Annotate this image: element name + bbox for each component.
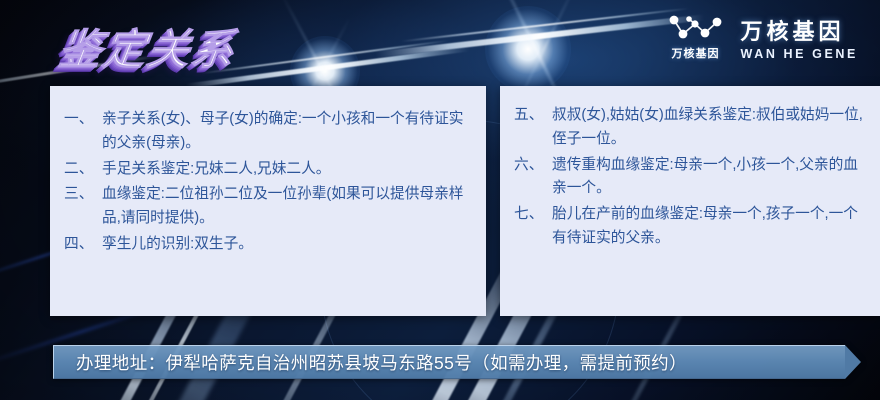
list-item-number: 三、	[64, 183, 102, 207]
brand-wordmark: 万核基因 WAN HE GENE	[741, 14, 859, 61]
address-text: 办理地址：伊犁哈萨克自治州昭苏县坡马东路55号（如需办理，需提前预约）	[76, 350, 687, 375]
list-item: 四、 孪生儿的识别:双生子。	[64, 233, 470, 257]
list-item-number: 七、	[514, 203, 552, 227]
panel-inner: 一、 亲子关系(女)、母子(女)的确定:一个小孩和一个有待证实的父亲(母亲)。 …	[50, 86, 486, 316]
list-item-number: 五、	[514, 104, 552, 128]
brand-mark-label: 万核基因	[672, 45, 720, 61]
molecule-network-icon	[667, 13, 725, 43]
list-item-number: 四、	[64, 233, 102, 257]
list-item: 三、 血缘鉴定:二位祖孙二位及一位孙辈(如果可以提供母亲样品,请同时提供)。	[64, 183, 470, 231]
promo-banner: 鉴定关系	[0, 0, 880, 400]
list-item-number: 六、	[514, 154, 552, 178]
list-item: 二、 手足关系鉴定:兄妹二人,兄妹二人。	[64, 158, 470, 182]
list-item-text: 孪生儿的识别:双生子。	[102, 233, 470, 257]
list-item-text: 血缘鉴定:二位祖孙二位及一位孙辈(如果可以提供母亲样品,请同时提供)。	[102, 183, 470, 231]
list-item-number: 二、	[64, 158, 102, 182]
service-list-panel-left: 一、 亲子关系(女)、母子(女)的确定:一个小孩和一个有待证实的父亲(母亲)。 …	[50, 86, 486, 316]
brand-mark: 万核基因	[667, 13, 725, 61]
address-banner: 办理地址：伊犁哈萨克自治州昭苏县坡马东路55号（如需办理，需提前预约）	[53, 345, 861, 379]
banner-header: 鉴定关系	[0, 0, 880, 86]
service-list-panel-right: 五、 叔叔(女),姑姑(女)血绿关系鉴定:叔伯或姑妈一位,侄子一位。 六、 遗传…	[500, 86, 880, 316]
address-bar: 办理地址：伊犁哈萨克自治州昭苏县坡马东路55号（如需办理，需提前预约）	[53, 345, 845, 379]
list-item-text: 叔叔(女),姑姑(女)血绿关系鉴定:叔伯或姑妈一位,侄子一位。	[552, 104, 868, 152]
brand-logo: 万核基因 万核基因 WAN HE GENE	[667, 13, 859, 61]
brand-name-cn: 万核基因	[741, 14, 845, 46]
list-item: 一、 亲子关系(女)、母子(女)的确定:一个小孩和一个有待证实的父亲(母亲)。	[64, 108, 470, 156]
list-item-text: 亲子关系(女)、母子(女)的确定:一个小孩和一个有待证实的父亲(母亲)。	[102, 108, 470, 156]
list-item: 七、 胎儿在产前的血缘鉴定:母亲一个,孩子一个,一个有待证实的父亲。	[514, 203, 868, 251]
list-item-text: 胎儿在产前的血缘鉴定:母亲一个,孩子一个,一个有待证实的父亲。	[552, 203, 868, 251]
page-title: 鉴定关系	[56, 16, 241, 77]
panel-inner: 五、 叔叔(女),姑姑(女)血绿关系鉴定:叔伯或姑妈一位,侄子一位。 六、 遗传…	[500, 86, 880, 316]
list-item: 五、 叔叔(女),姑姑(女)血绿关系鉴定:叔伯或姑妈一位,侄子一位。	[514, 104, 868, 152]
brand-name-en: WAN HE GENE	[741, 47, 859, 61]
list-item: 六、 遗传重构血缘鉴定:母亲一个,小孩一个,父亲的血亲一个。	[514, 154, 868, 202]
arrow-point-icon	[845, 345, 861, 379]
list-item-number: 一、	[64, 108, 102, 132]
list-item-text: 手足关系鉴定:兄妹二人,兄妹二人。	[102, 158, 470, 182]
list-item-text: 遗传重构血缘鉴定:母亲一个,小孩一个,父亲的血亲一个。	[552, 154, 868, 202]
